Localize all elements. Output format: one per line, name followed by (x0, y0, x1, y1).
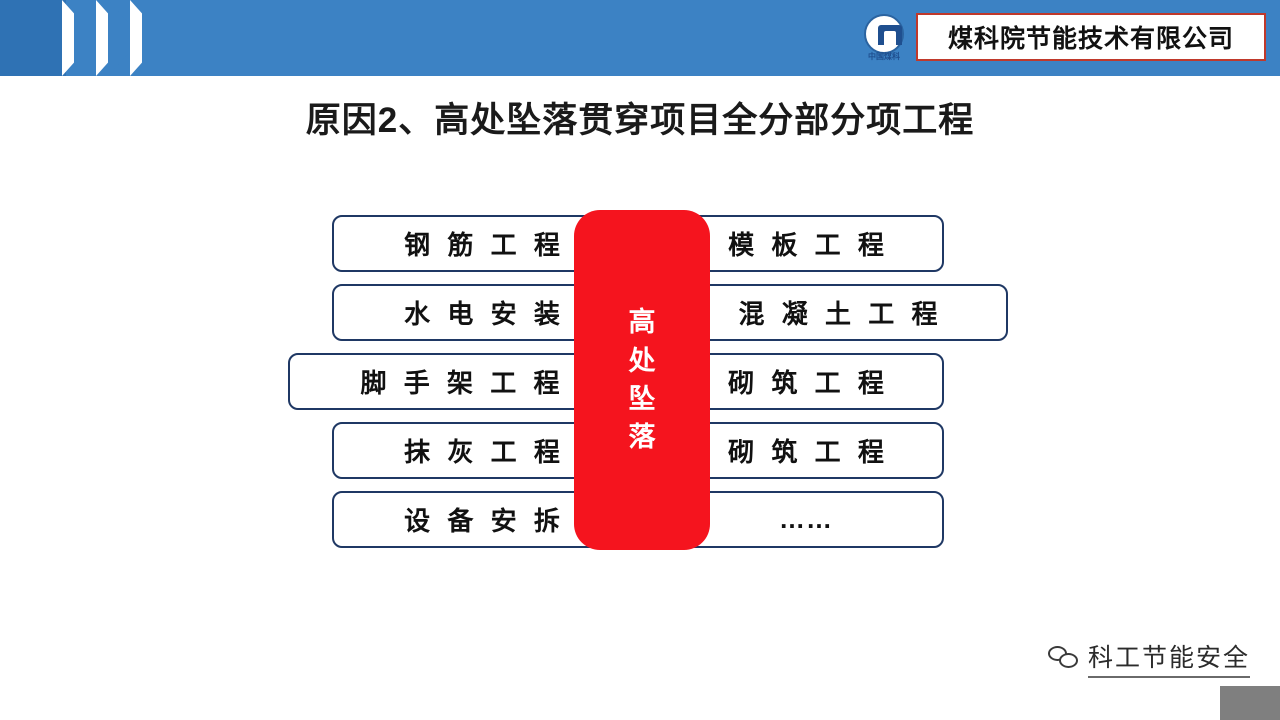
company-logo-icon: 中国煤科 (860, 14, 908, 62)
wechat-icon (1048, 644, 1080, 672)
company-name-label: 煤科院节能技术有限公司 (948, 19, 1234, 55)
right-process-label: 混 凝 土 工 程 (734, 294, 943, 331)
left-process-label: 脚 手 架 工 程 (356, 363, 565, 400)
watermark-label: 科工节能安全 (1088, 638, 1250, 678)
center-hazard-bar[interactable]: 高 处 坠 落 (574, 210, 710, 550)
right-process-box[interactable]: 混 凝 土 工 程 (668, 284, 1008, 341)
logo-circle (864, 14, 904, 54)
logo-glyph (878, 25, 902, 45)
center-hazard-char: 落 (629, 418, 656, 456)
page-title: 原因2、高处坠落贯穿项目全分部分项工程 (0, 92, 1280, 143)
wechat-bubble-front (1059, 653, 1078, 668)
center-hazard-char: 处 (629, 342, 656, 380)
chevron-right-inner-3 (142, 0, 176, 76)
center-hazard-char: 坠 (629, 380, 656, 418)
header-band: 中国煤科 煤科院节能技术有限公司 (0, 0, 1280, 76)
center-hazard-char: 高 (629, 303, 656, 341)
left-process-label: 钢 筋 工 程 (399, 225, 565, 262)
right-process-label: 砌 筑 工 程 (723, 363, 889, 400)
header-left-block (0, 0, 66, 76)
logo-caption: 中国煤科 (860, 51, 908, 62)
right-process-label: …… (779, 504, 833, 535)
corner-block (1220, 686, 1280, 720)
left-process-label: 水 电 安 装 (399, 294, 565, 331)
company-name-box: 煤科院节能技术有限公司 (916, 13, 1266, 61)
left-process-label: 设 备 安 拆 (399, 501, 565, 538)
right-process-label: 砌 筑 工 程 (723, 432, 889, 469)
diagram-container: 钢 筋 工 程 模 板 工 程 水 电 安 装 混 凝 土 工 程 脚 手 架 … (280, 215, 1020, 560)
left-process-label: 抹 灰 工 程 (399, 432, 565, 469)
right-process-label: 模 板 工 程 (723, 225, 889, 262)
watermark: 科工节能安全 (1048, 638, 1250, 678)
